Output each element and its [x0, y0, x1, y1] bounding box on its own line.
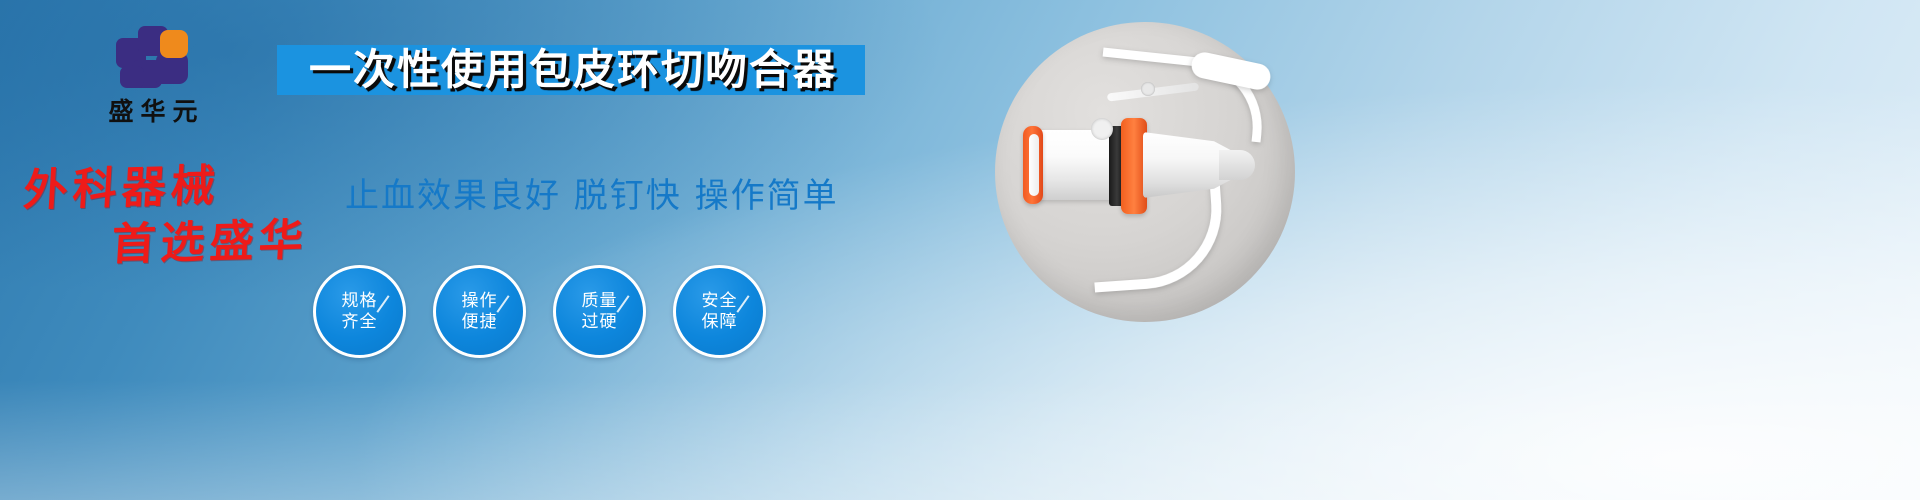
feature-circle[interactable]: 安全 保障	[673, 265, 766, 358]
stapler-hinge	[1091, 118, 1113, 140]
stapler-tip	[1219, 150, 1255, 180]
slash-icon	[496, 295, 509, 313]
feature-line-1: 操作	[462, 291, 498, 312]
product-image	[995, 22, 1295, 322]
feature-line-1: 规格	[342, 291, 378, 312]
brand-logo[interactable]: 盛华元	[58, 26, 248, 128]
slash-icon	[616, 295, 629, 313]
feature-line-2: 便捷	[462, 312, 498, 333]
feature-circle[interactable]: 操作 便捷	[433, 265, 526, 358]
headline-title: 一次性使用包皮环切吻合器	[283, 42, 863, 98]
feature-line-1: 安全	[702, 291, 738, 312]
stapler-end-cap-inner	[1029, 134, 1039, 196]
brand-name: 盛华元	[58, 92, 248, 128]
subtitle-text: 止血效果良好 脱钉快 操作简单	[345, 168, 839, 217]
background-bottom-fade	[0, 380, 1920, 500]
blocks-logo-icon	[116, 26, 190, 88]
feature-circle[interactable]: 规格 齐全	[313, 265, 406, 358]
stapler-pivot	[1141, 82, 1155, 96]
slogan-line-2: 首选盛华	[110, 203, 310, 272]
feature-circle-list: 规格 齐全 操作 便捷 质量 过硬 安全 保障	[313, 265, 766, 358]
feature-line-1: 质量	[582, 291, 618, 312]
slash-icon	[376, 295, 389, 313]
promo-banner: 盛华元 一次性使用包皮环切吻合器 外科器械 首选盛华 止血效果良好 脱钉快 操作…	[0, 0, 1920, 500]
feature-circle[interactable]: 质量 过硬	[553, 265, 646, 358]
feature-line-2: 齐全	[342, 312, 378, 333]
slash-icon	[736, 295, 749, 313]
stapler-barrel	[1031, 130, 1117, 200]
feature-line-2: 保障	[702, 312, 738, 333]
feature-line-2: 过硬	[582, 312, 618, 333]
